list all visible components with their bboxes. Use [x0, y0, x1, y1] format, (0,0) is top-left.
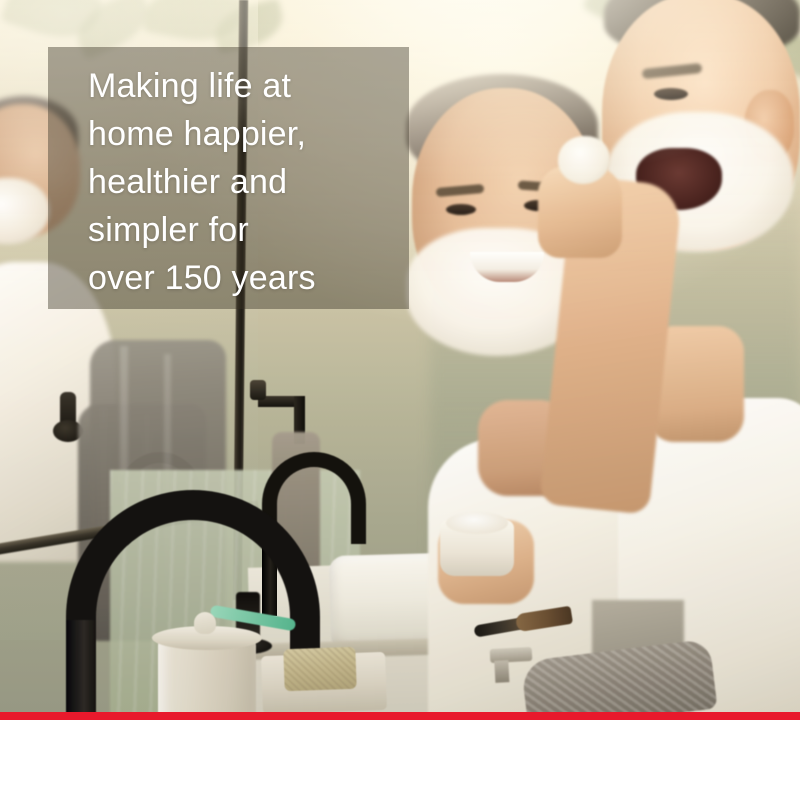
advertisement-root: Making life at home happier, healthier a…: [0, 0, 800, 800]
towel-bar-hook: [258, 396, 302, 407]
brand-band: American Standard: [0, 720, 800, 800]
soap-bar: [283, 647, 356, 691]
secondary-tap: [490, 647, 533, 663]
reflected-towel-hook: [60, 392, 76, 432]
shaving-cream-foam-top: [446, 512, 508, 534]
red-accent-rule: [0, 712, 800, 720]
canister-knob: [194, 612, 216, 634]
headline-text: Making life at home happier, healthier a…: [88, 62, 408, 302]
son-eye: [654, 88, 688, 100]
father-eye-left: [446, 204, 476, 215]
